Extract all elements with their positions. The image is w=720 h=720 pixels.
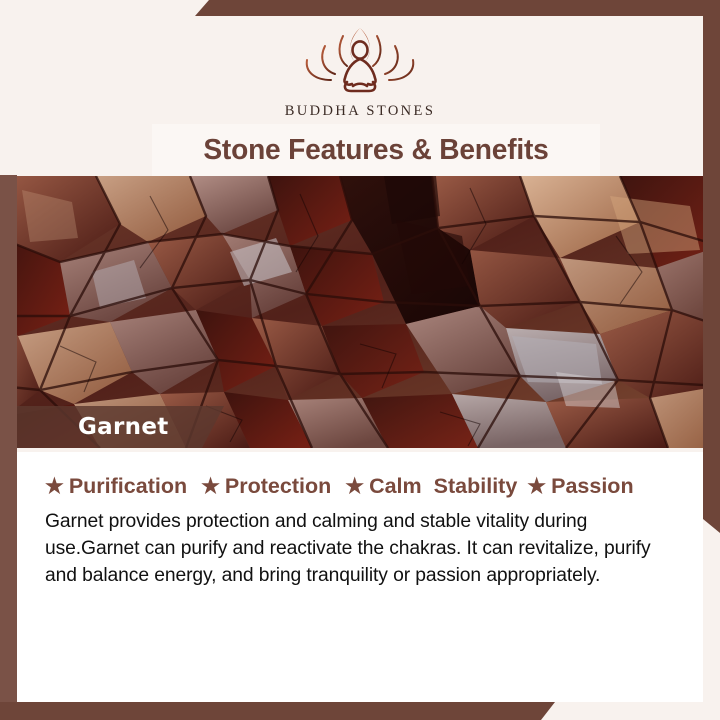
benefit-item-protection: ★ Protection — [201, 474, 331, 499]
stone-description: Garnet provides protection and calming a… — [45, 508, 677, 589]
benefit-item-passion: ★ Passion — [527, 474, 633, 499]
benefit-label: Passion — [551, 474, 633, 499]
lotus-meditation-figure-icon — [285, 20, 435, 98]
frame-accent-right — [703, 0, 720, 533]
stone-name-text: Garnet — [78, 414, 169, 440]
stone-photo: Garnet — [0, 176, 720, 448]
star-icon: ★ — [527, 476, 546, 497]
page-title: Stone Features & Benefits — [203, 134, 548, 167]
benefit-item-purification: ★ Purification — [45, 474, 187, 499]
benefits-list: ★ Purification ★ Protection ★ Calm Stabi… — [17, 452, 703, 499]
frame-accent-left — [0, 175, 17, 720]
benefit-item-stability: Stability — [434, 474, 518, 499]
benefit-label: Purification — [69, 474, 187, 499]
frame-accent-bottom — [0, 702, 555, 720]
frame-accent-top — [195, 0, 720, 16]
star-icon: ★ — [45, 476, 64, 497]
brand-logo-group: BUDDHA STONES — [0, 20, 720, 120]
benefit-label: Protection — [225, 474, 331, 499]
star-icon: ★ — [345, 476, 364, 497]
page-title-bar: Stone Features & Benefits — [152, 124, 600, 176]
benefit-label: Stability — [434, 474, 518, 499]
stone-name-label: Garnet — [0, 406, 224, 448]
header-section: BUDDHA STONES Stone Features & Benefits — [0, 0, 720, 176]
content-panel: ★ Purification ★ Protection ★ Calm Stabi… — [17, 452, 703, 702]
star-icon: ★ — [201, 476, 220, 497]
infographic-card: BUDDHA STONES Stone Features & Benefits — [0, 0, 720, 720]
benefit-label: Calm — [369, 474, 422, 499]
brand-name: BUDDHA STONES — [285, 103, 436, 120]
benefit-item-calm: ★ Calm — [345, 474, 421, 499]
